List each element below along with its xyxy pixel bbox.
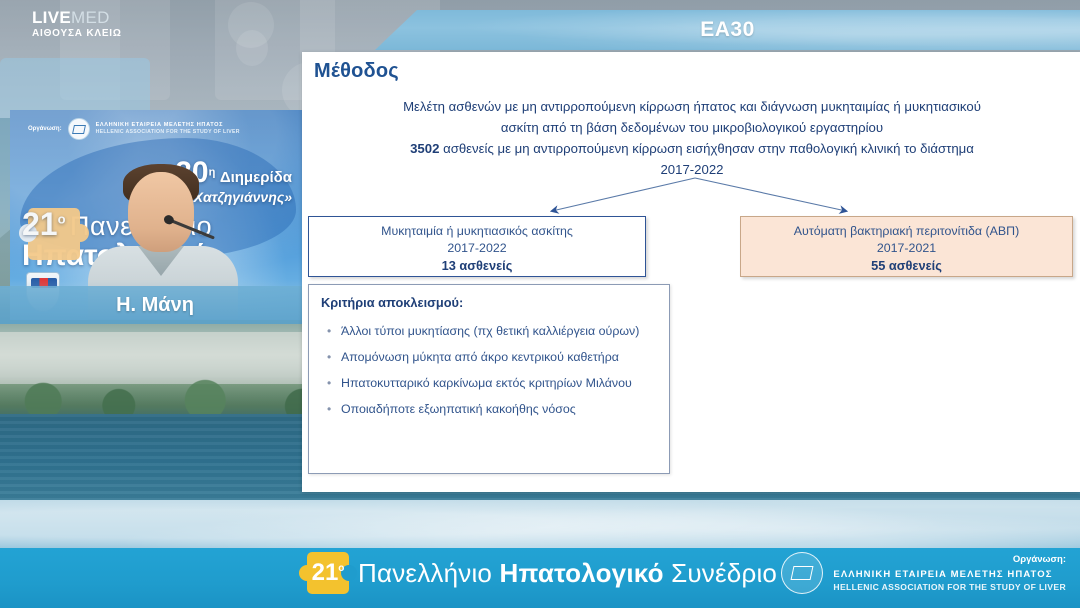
exclusion-criteria-list: Άλλοι τύποι μυκητίασης (πχ θετική καλλιέ…: [321, 318, 657, 422]
footer-association-gr: ΕΛΛΗΝΙΚΗ ΕΤΑΙΡΕΙΑ ΜΕΛΕΤΗΣ ΗΠΑΤΟΣ: [833, 569, 1066, 581]
lead-line-3: 3502 ασθενείς με μη αντιρροπούμενη κίρρω…: [316, 138, 1068, 159]
brand-name: LIVEMED: [32, 8, 122, 27]
association-name: ΕΛΛΗΝΙΚΗ ΕΤΑΙΡΕΙΑ ΜΕΛΕΤΗΣ ΗΠΑΤΟΣ HELLENI…: [96, 122, 240, 137]
footer-congress-number-sup: ο: [338, 563, 344, 574]
session-code-label: ΕΑ30: [375, 10, 1080, 50]
fungemia-box-line-1: Μυκηταιμία ή μυκητιασικός ασκίτης: [309, 223, 645, 240]
slide-title: Μέθοδος: [314, 60, 399, 83]
event-number-sup: η: [209, 167, 216, 179]
arrow-to-right-box: [695, 178, 846, 211]
sbp-box-period: 2017-2021: [741, 240, 1072, 257]
footer-title-part2: Συνέδριο: [664, 558, 777, 588]
exclusion-criteria-box: Κριτήρια αποκλεισμού: Άλλοι τύποι μυκητί…: [308, 284, 670, 474]
puzzle-piece-icon: 21ο: [307, 552, 349, 594]
brand-room-label: ΑΙΘΟΥΣΑ ΚΛΕΙΩ: [32, 27, 122, 40]
speaker-nameplate: Η. Μάνη: [0, 286, 310, 324]
livemed-brand: LIVEMED ΑΙΘΟΥΣΑ ΚΛΕΙΩ: [32, 8, 122, 40]
fungemia-box-period: 2017-2022: [309, 240, 645, 257]
puzzle-knob-2: [236, 30, 268, 66]
footer-association-en: HELLENIC ASSOCIATION FOR THE STUDY OF LI…: [833, 581, 1066, 593]
footer-organizer-label: Οργάνωση:: [833, 554, 1066, 566]
arrow-to-left-box: [552, 178, 695, 211]
congress-number: 21ο: [22, 206, 66, 242]
lead-line-3-text: ασθενείς με μη αντιρροπούμενη κίρρωση ει…: [439, 141, 973, 156]
association-seal-icon: [68, 118, 90, 140]
sbp-box-line-1: Αυτόματη βακτηριακή περιτονίτιδα (ΑΒΠ): [741, 223, 1072, 240]
list-item: Άλλοι τύποι μυκητίασης (πχ θετική καλλιέ…: [321, 318, 657, 344]
sbp-box: Αυτόματη βακτηριακή περιτονίτιδα (ΑΒΠ) 2…: [740, 216, 1073, 277]
association-name-en: HELLENIC ASSOCIATION FOR THE STUDY OF LI…: [96, 129, 240, 137]
lead-line-4: 2017-2022: [316, 159, 1068, 180]
event-kind: Διημερίδα: [220, 169, 292, 186]
list-item: Ηπατοκυτταρικό καρκίνωμα εκτός κριτηρίων…: [321, 370, 657, 396]
lead-line-2: ασκίτη από τη βάση δεδομένων του μικροβι…: [316, 117, 1068, 138]
footer-organizer: Οργάνωση: ΕΛΛΗΝΙΚΗ ΕΤΑΙΡΕΙΑ ΜΕΛΕΤΗΣ ΗΠΑΤ…: [781, 552, 1066, 594]
footer-congress-number-value: 21: [312, 559, 339, 586]
fungemia-box: Μυκηταιμία ή μυκητιασικός ασκίτης 2017-2…: [308, 216, 646, 277]
footer-title-bold: Ηπατολογικό: [500, 558, 664, 588]
list-item: Απομόνωση μύκητα από άκρο κεντρικού καθε…: [321, 344, 657, 370]
list-item: Οποιαδήποτε εξωηπατική κακοήθης νόσος: [321, 396, 657, 422]
congress-number-sup: ο: [58, 211, 66, 226]
lead-line-1: Μελέτη ασθενών με μη αντιρροπούμενη κίρρ…: [316, 96, 1068, 117]
association-seal-icon: [781, 552, 823, 594]
association-name-gr: ΕΛΛΗΝΙΚΗ ΕΤΑΙΡΕΙΑ ΜΕΛΕΤΗΣ ΗΠΑΤΟΣ: [96, 122, 240, 130]
footer-title-part1: Πανελλήνιο: [358, 558, 500, 588]
speaker-name-label: Η. Μάνη: [116, 294, 194, 317]
lead-patient-count: 3502: [410, 141, 439, 156]
slide-lead-text: Μελέτη ασθενών με μη αντιρροπούμενη κίρρ…: [316, 96, 1068, 180]
exclusion-criteria-heading: Κριτήρια αποκλεισμού:: [321, 295, 657, 310]
brand-live: LIVE: [32, 8, 71, 27]
video-backdrop-header: Οργάνωση: ΕΛΛΗΝΙΚΗ ΕΤΑΙΡΕΙΑ ΜΕΛΕΤΗΣ ΗΠΑΤ…: [28, 118, 296, 140]
fungemia-box-count: 13 ασθενείς: [309, 257, 645, 274]
footer-association: Οργάνωση: ΕΛΛΗΝΙΚΗ ΕΤΑΙΡΕΙΑ ΜΕΛΕΤΗΣ ΗΠΑΤ…: [833, 554, 1066, 593]
congress-number-value: 21: [22, 206, 58, 242]
brand-med: MED: [71, 8, 110, 27]
footer-congress-number: 21ο: [312, 559, 345, 587]
speaker-head: [128, 172, 194, 252]
sbp-box-count: 55 ασθενείς: [741, 257, 1072, 274]
presentation-slide[interactable]: Μέθοδος Μελέτη ασθενών με μη αντιρροπούμ…: [302, 52, 1080, 492]
organizer-label: Οργάνωση:: [28, 126, 62, 132]
footer-congress-title: Πανελλήνιο Ηπατολογικό Συνέδριο: [358, 558, 777, 589]
footer-congress-logo: 21ο Πανελλήνιο Ηπατολογικό Συνέδριο: [307, 552, 777, 594]
